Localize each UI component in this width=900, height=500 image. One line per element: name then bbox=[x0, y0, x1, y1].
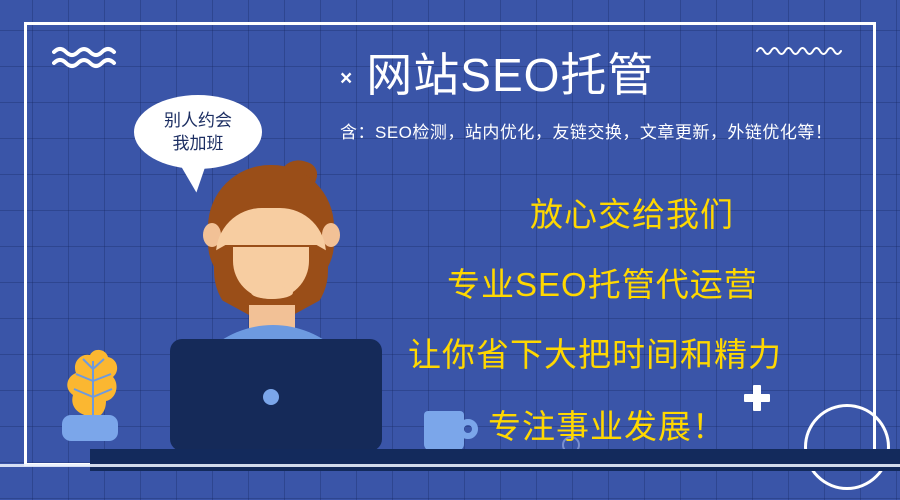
coffee-mug bbox=[424, 411, 464, 451]
speech-bubble-line-1: 别人约会 bbox=[164, 110, 232, 133]
cross-icon: × bbox=[340, 68, 352, 89]
plus-sparkle-icon bbox=[744, 385, 770, 411]
desk-surface bbox=[90, 449, 900, 471]
page-title: × 网站SEO托管 bbox=[340, 47, 760, 103]
plant-leaves-icon bbox=[56, 345, 130, 421]
speech-bubble-line-2: 我加班 bbox=[173, 133, 224, 156]
character-mouth bbox=[251, 286, 293, 299]
selling-point-1: 放心交给我们 bbox=[530, 198, 734, 231]
wave-decoration-left bbox=[52, 44, 120, 70]
laptop-logo-icon bbox=[263, 389, 279, 405]
title-text: 网站SEO托管 bbox=[366, 52, 654, 98]
seo-promo-banner: × 网站SEO托管 含：SEO检测，站内优化，友链交换，文章更新，外链优化等！ … bbox=[0, 0, 900, 500]
desk-edge-line bbox=[0, 464, 900, 467]
wave-decoration-right bbox=[755, 42, 845, 58]
selling-point-4: 专注事业发展！ bbox=[488, 410, 726, 443]
subtitle-text: 含：SEO检测，站内优化，友链交换，文章更新，外链优化等！ bbox=[340, 118, 880, 143]
plant-pot bbox=[62, 415, 118, 441]
selling-point-3: 让你省下大把时间和精力 bbox=[408, 338, 782, 371]
selling-point-2: 专业SEO托管代运营 bbox=[447, 268, 758, 301]
circle-decoration-bottom-right bbox=[804, 404, 890, 490]
speech-bubble-text: 别人约会 我加班 bbox=[134, 103, 262, 163]
